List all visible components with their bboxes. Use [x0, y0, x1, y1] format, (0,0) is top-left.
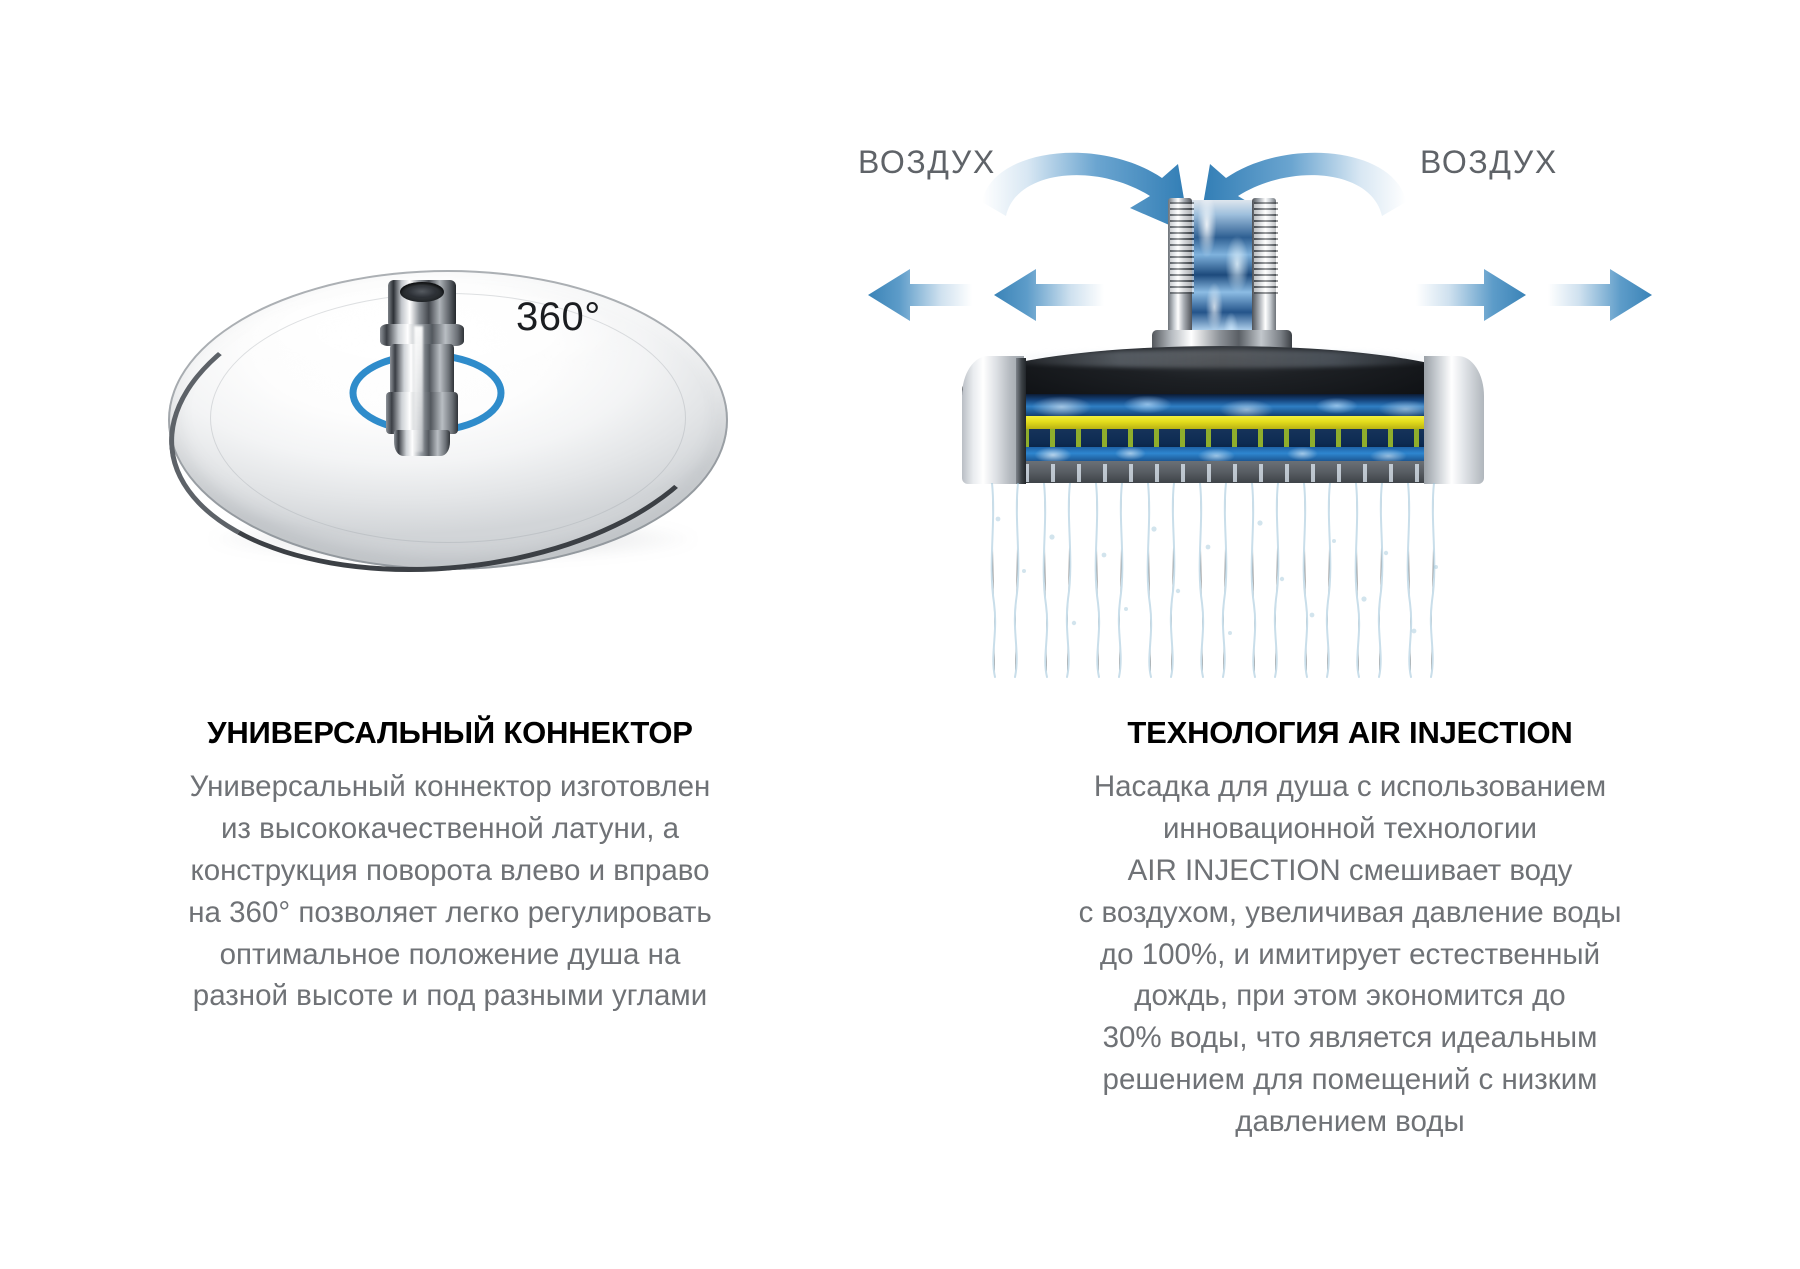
head-shell-left	[962, 356, 1024, 484]
left-feature-panel: 360° УНИВЕРСАЛЬНЫЙ КОННЕКТОР Универсальн…	[0, 0, 900, 1269]
stem-threads-left	[1170, 202, 1194, 294]
yellow-nozzle-plate	[1010, 416, 1440, 429]
stem-threads-right	[1254, 202, 1278, 294]
right-body-line-5: до 100%, и имитирует естественный	[1030, 934, 1670, 976]
right-caption: ТЕХНОЛОГИЯ AIR INJECTION Насадка для душ…	[1030, 716, 1670, 1143]
head-dome-sheen	[988, 350, 1456, 368]
right-body-line-6: дождь, при этом экономится до	[1030, 975, 1670, 1017]
air-label-left: ВОЗДУХ	[858, 144, 996, 181]
face-nozzle-row	[1010, 464, 1440, 482]
right-body-line-8: решением для помещений с низким	[1030, 1059, 1670, 1101]
left-caption: УНИВЕРСАЛЬНЫЙ КОННЕКТОР Универсальный ко…	[130, 716, 770, 1017]
right-feature-title: ТЕХНОЛОГИЯ AIR INJECTION	[1030, 716, 1670, 750]
right-feature-panel: ВОЗДУХ ВОЗДУХ	[900, 0, 1800, 1269]
air-label-right: ВОЗДУХ	[1420, 144, 1558, 181]
left-body-line-2: из высококачественной латуни, а	[130, 808, 770, 850]
right-body-line-4: с воздухом, увеличивая давление воды	[1030, 892, 1670, 934]
right-body-line-9: давлением воды	[1030, 1101, 1670, 1143]
connector-highlight	[414, 326, 423, 452]
left-body-line-1: Универсальный коннектор изготовлен	[130, 766, 770, 808]
universal-connector	[380, 280, 464, 460]
right-feature-body: Насадка для душа с использованием иннова…	[1030, 766, 1670, 1143]
rotation-degree-label: 360°	[516, 295, 601, 340]
left-body-line-6: разной высоте и под разными углами	[130, 975, 770, 1017]
connector-bore-inner	[407, 286, 437, 298]
right-body-line-3: AIR INJECTION смешивает воду	[1030, 850, 1670, 892]
right-body-line-1: Насадка для душа с использованием	[1030, 766, 1670, 808]
inlet-stem	[1168, 198, 1276, 346]
universal-connector-illustration: 360°	[148, 225, 768, 575]
left-feature-body: Универсальный коннектор изготовлен из вы…	[130, 766, 770, 1017]
water-spray	[962, 483, 1482, 678]
infographic-page: 360° УНИВЕРСАЛЬНЫЙ КОННЕКТОР Универсальн…	[0, 0, 1800, 1269]
right-body-line-7: 30% воды, что является идеальным	[1030, 1017, 1670, 1059]
left-feature-title: УНИВЕРСАЛЬНЫЙ КОННЕКТОР	[130, 716, 770, 750]
head-shell-cut-edge	[1016, 358, 1026, 484]
stem-water-swirl	[1190, 200, 1254, 344]
shower-head-cutaway	[962, 198, 1482, 448]
left-body-line-5: оптимальное положение душа на	[130, 934, 770, 976]
right-body-line-2: инновационной технологии	[1030, 808, 1670, 850]
left-body-line-3: конструкция поворота влево и вправо	[130, 850, 770, 892]
head-shell-right	[1424, 356, 1484, 484]
left-body-line-4: на 360° позволяет легко регулировать	[130, 892, 770, 934]
air-injection-illustration: ВОЗДУХ ВОЗДУХ	[900, 120, 1800, 680]
